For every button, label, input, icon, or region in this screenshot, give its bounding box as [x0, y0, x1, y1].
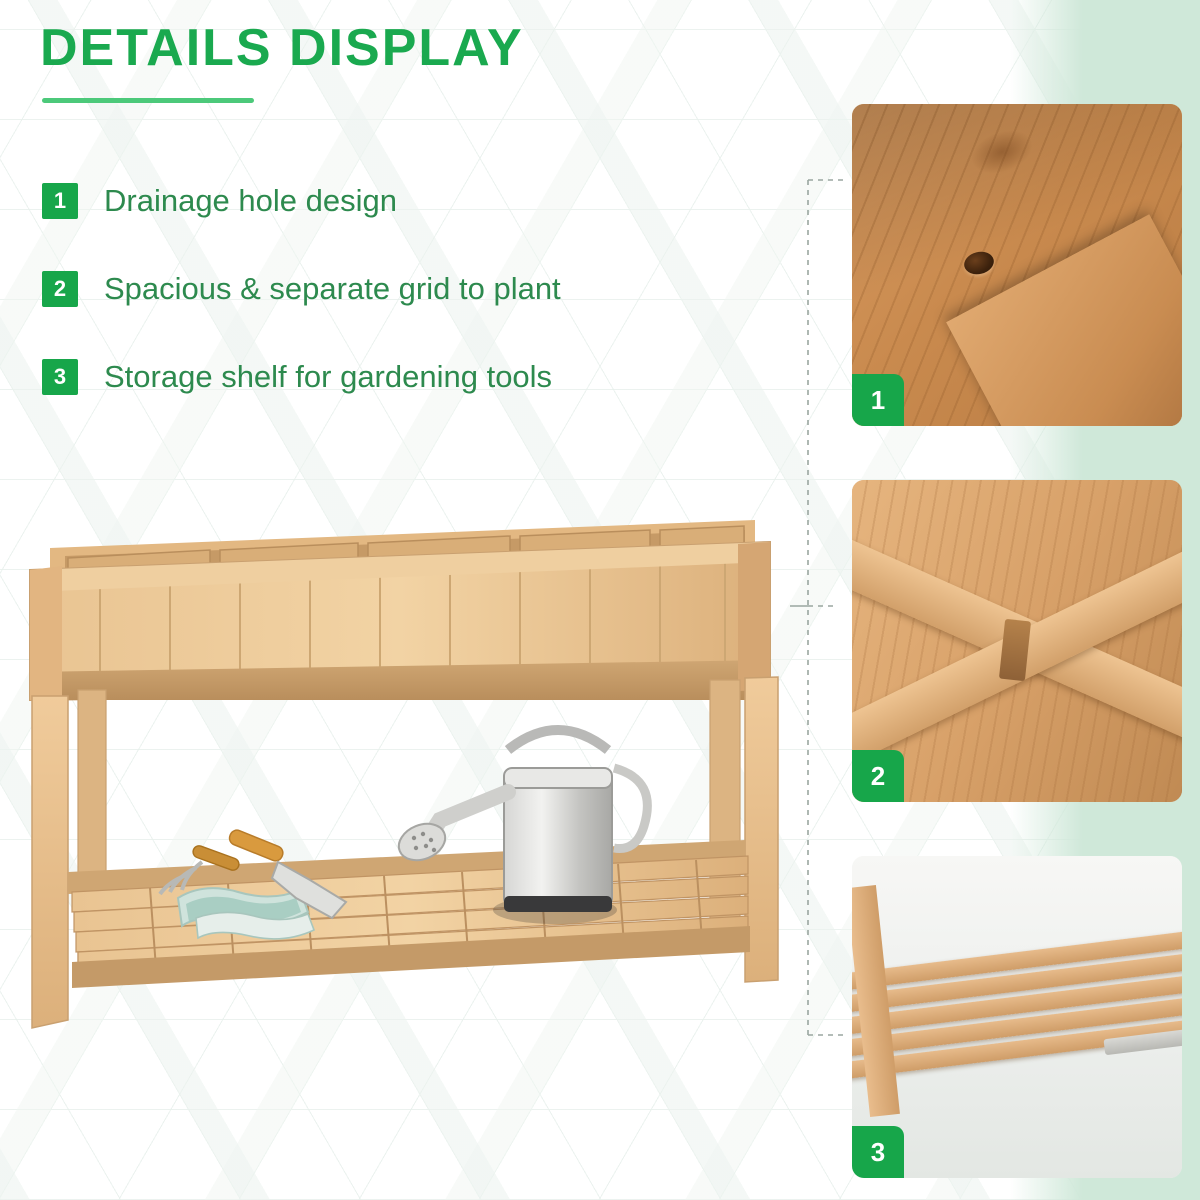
plank-edge: [946, 214, 1182, 426]
feature-number-badge-1: 1: [42, 183, 78, 219]
feature-label-2: Spacious & separate grid to plant: [104, 271, 561, 307]
feature-label-3: Storage shelf for gardening tools: [104, 359, 552, 395]
planter-front-panel: [30, 542, 770, 700]
drainage-hole: [962, 249, 996, 278]
feature-item-2: 2 Spacious & separate grid to plant: [42, 268, 802, 310]
shelf-slat-group: [852, 931, 1182, 1094]
detail-card-3-badge: 3: [852, 1126, 904, 1178]
feature-number-badge-2: 2: [42, 271, 78, 307]
feature-list: 1 Drainage hole design 2 Spacious & sepa…: [42, 180, 802, 444]
feature-item-1: 1 Drainage hole design: [42, 180, 802, 222]
storage-shelf: [68, 840, 750, 988]
feature-label-1: Drainage hole design: [104, 183, 397, 219]
detail-card-3[interactable]: 3: [852, 856, 1182, 1178]
detail-card-1[interactable]: 1: [852, 104, 1182, 426]
feature-item-3: 3 Storage shelf for gardening tools: [42, 356, 802, 398]
title-underline: [42, 98, 254, 103]
product-image: [10, 500, 810, 1060]
detail-card-1-badge: 1: [852, 374, 904, 426]
page-title: DETAILS DISPLAY: [40, 18, 524, 78]
detail-card-2-badge: 2: [852, 750, 904, 802]
detail-card-2[interactable]: 2: [852, 480, 1182, 802]
wood-knot: [965, 122, 1039, 181]
feature-number-badge-3: 3: [42, 359, 78, 395]
